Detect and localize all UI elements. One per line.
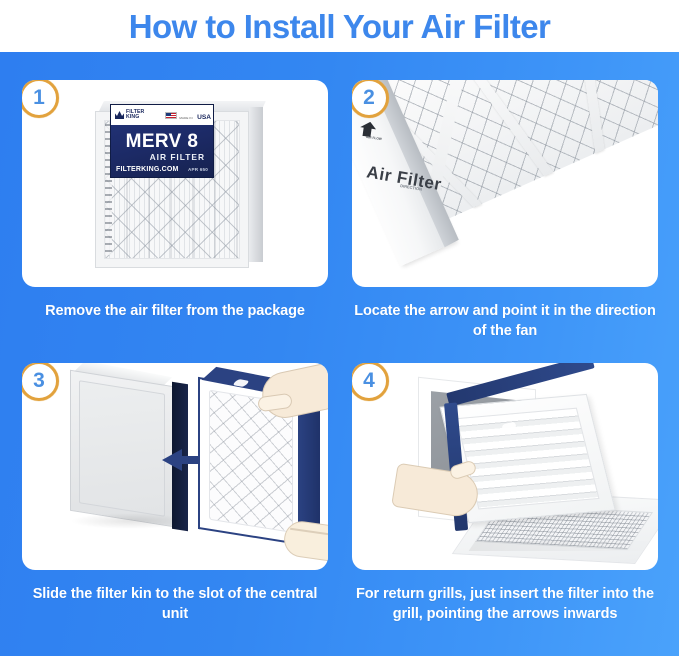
step-4-caption: For return grills, just insert the filte… bbox=[352, 584, 658, 624]
header-bar: How to Install Your Air Filter bbox=[0, 0, 679, 52]
made-in-label: MADE IN bbox=[179, 116, 192, 120]
label-header-strip: FILTER KING MADE IN USA bbox=[111, 105, 214, 125]
infographic-page: How to Install Your Air Filter 1 bbox=[0, 0, 679, 656]
step-1-card: 1 bbox=[22, 80, 328, 287]
steps-grid: 1 bbox=[0, 52, 679, 656]
step-1-artwork: FILTER KING MADE IN USA bbox=[22, 80, 328, 287]
made-in-usa-lockup: MADE IN USA bbox=[165, 106, 211, 124]
apr-rating: APR 650 bbox=[188, 167, 208, 172]
step-2: 2 AIR FLO bbox=[352, 80, 658, 341]
page-title: How to Install Your Air Filter bbox=[129, 10, 550, 43]
step-1-number: 1 bbox=[33, 87, 45, 108]
step-3-card: 3 bbox=[22, 363, 328, 570]
step-2-caption: Locate the arrow and point it in the dir… bbox=[352, 301, 658, 341]
unit-shadow bbox=[70, 513, 190, 529]
filter-corner-body: AIR FLOW Air Filter DIRECTION bbox=[352, 80, 658, 287]
filter-side-face bbox=[249, 107, 263, 262]
step-3: 3 bbox=[22, 363, 328, 624]
usa-flag-icon bbox=[165, 112, 177, 119]
step-4-card: 4 bbox=[352, 363, 658, 570]
website-url: FILTERKING.COM bbox=[116, 166, 179, 173]
brand-lockup: FILTER KING bbox=[115, 110, 144, 121]
crown-icon bbox=[115, 111, 124, 119]
air-filter-subtitle: AIR FILTER bbox=[150, 152, 205, 162]
step-2-number: 2 bbox=[363, 87, 375, 108]
label-footer-strip: FILTERKING.COM APR 650 bbox=[116, 166, 208, 173]
step-4-number: 4 bbox=[363, 370, 375, 391]
country-label: USA bbox=[197, 114, 211, 121]
step-1-caption: Remove the air filter from the package bbox=[22, 301, 328, 321]
made-in-usa-text: MADE IN USA bbox=[179, 106, 211, 124]
brand-line-2: KING bbox=[126, 114, 139, 120]
step-3-artwork bbox=[22, 363, 328, 570]
step-2-card: 2 AIR FLO bbox=[352, 80, 658, 287]
slot-recess bbox=[79, 380, 165, 517]
base-shadow bbox=[469, 541, 656, 551]
step-3-number: 3 bbox=[33, 370, 45, 391]
step-1: 1 bbox=[22, 80, 328, 321]
step-4: 4 bbox=[352, 363, 658, 624]
step-3-caption: Slide the filter kin to the slot of the … bbox=[22, 584, 328, 624]
air-filter-product-image: FILTER KING MADE IN USA bbox=[95, 101, 263, 268]
merv-rating: MERV 8 bbox=[111, 132, 213, 151]
product-label: FILTER KING MADE IN USA bbox=[110, 104, 214, 178]
filter-corner-image: AIR FLOW Air Filter DIRECTION bbox=[352, 80, 658, 287]
brand-name: FILTER KING bbox=[126, 110, 144, 121]
step-4-artwork bbox=[352, 363, 658, 570]
hand-lower bbox=[282, 519, 328, 563]
step-2-artwork: AIR FLOW Air Filter DIRECTION bbox=[352, 80, 658, 287]
central-unit-slot bbox=[70, 370, 174, 527]
